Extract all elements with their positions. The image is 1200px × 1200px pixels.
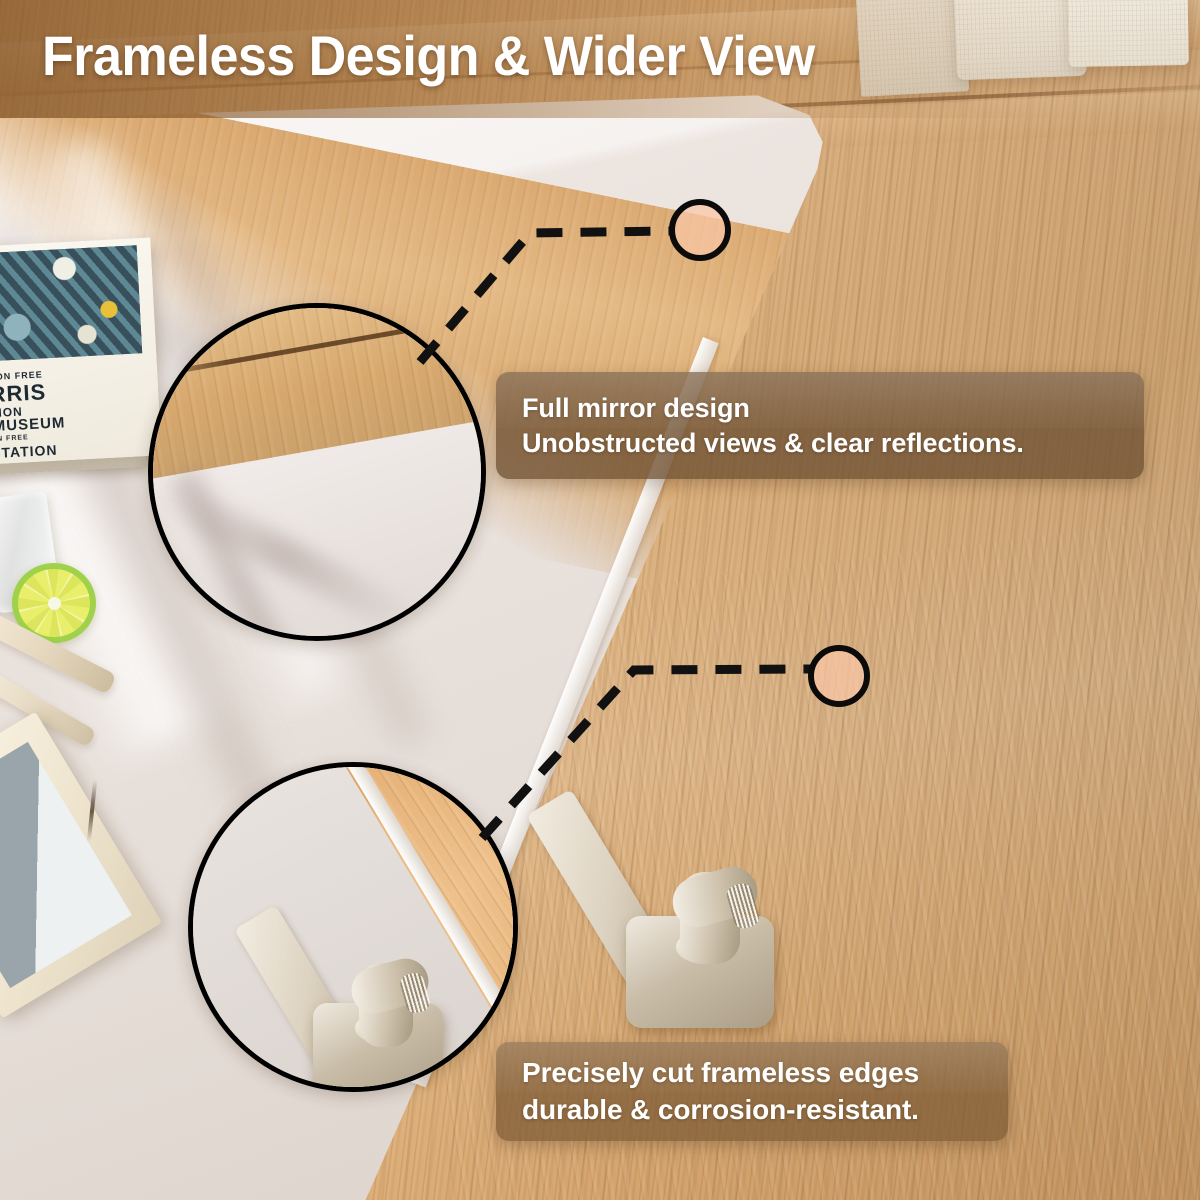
callout-2-line-2: durable & corrosion-resistant. (522, 1092, 1008, 1128)
callout-1-line-1: Full mirror design (522, 391, 1144, 426)
callout-1-line-2: Unobstructed views & clear reflections. (522, 426, 1144, 461)
callout-frameless-edges: Precisely cut frameless edges durable & … (496, 1042, 1008, 1141)
page-title: Frameless Design & Wider View (42, 28, 1009, 84)
poster-text-museum: ART MUSEUM (0, 414, 66, 437)
product-feature-image: ADMISSION FREE MORRIS XHIBITION ART MUSE… (0, 0, 1200, 1200)
callout-2-line-1: Precisely cut frameless edges (522, 1055, 1008, 1091)
magnifier-mirror-edge (148, 303, 486, 641)
callout-node-dot-bottom[interactable] (808, 645, 870, 707)
magnifier-mounting-clip (188, 762, 518, 1092)
poster-text-station: STATION (0, 442, 58, 461)
callout-node-dot-top[interactable] (669, 199, 731, 261)
art-poster: ADMISSION FREE MORRIS XHIBITION ART MUSE… (0, 238, 162, 467)
poster-artwork (0, 245, 142, 363)
callout-full-mirror-design: Full mirror design Unobstructed views & … (496, 372, 1144, 479)
